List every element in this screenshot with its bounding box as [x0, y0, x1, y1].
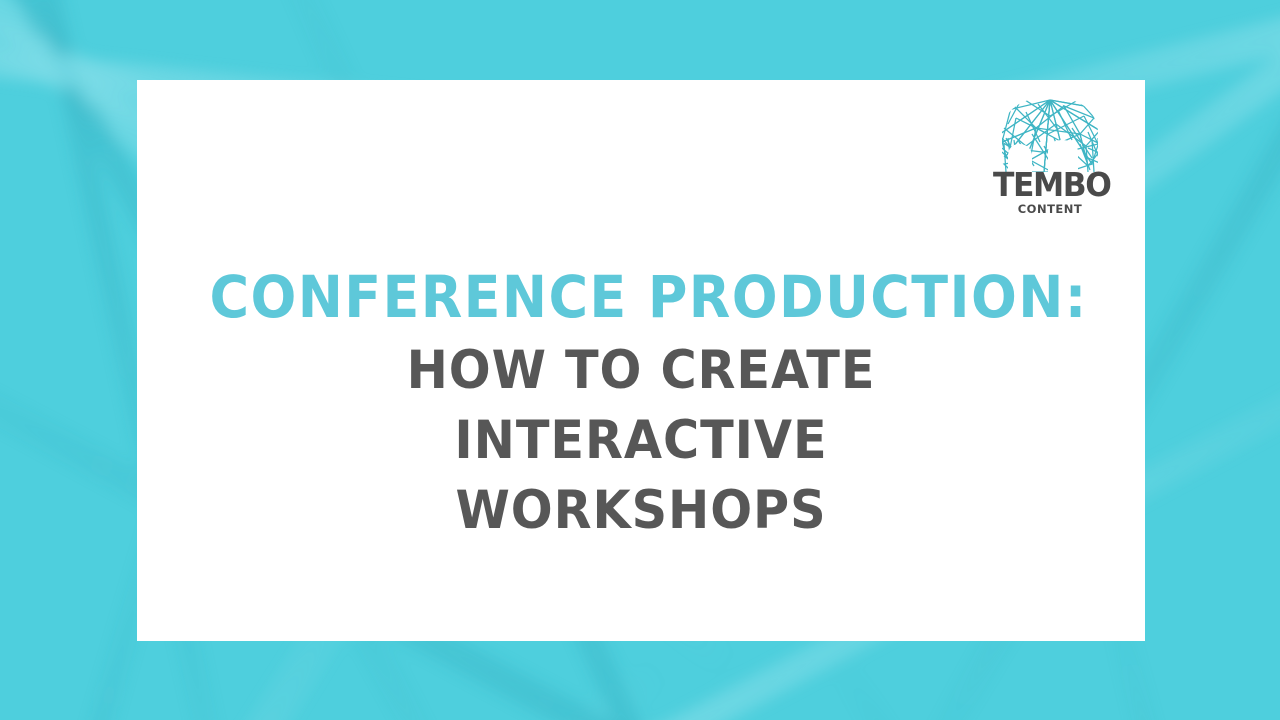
- slide-title: CONFERENCE PRODUCTION:: [209, 265, 1072, 330]
- tembo-logo: TEMBO CONTENT: [990, 94, 1110, 219]
- slide-subtitle-line: INTERACTIVE: [209, 406, 1072, 476]
- title-block: CONFERENCE PRODUCTION: HOW TO CREATE INT…: [137, 265, 1145, 546]
- logo-brand-name: TEMBO: [993, 168, 1107, 201]
- slide-subtitle-line: HOW TO CREATE: [209, 336, 1072, 406]
- slide-card: TEMBO CONTENT CONFERENCE PRODUCTION: HOW…: [137, 80, 1145, 641]
- logo-tagline: CONTENT: [990, 204, 1110, 216]
- elephant-icon: [992, 94, 1108, 172]
- logo-wordmark: TEMBO CONTENT: [990, 168, 1110, 216]
- slide-subtitle: HOW TO CREATE INTERACTIVE WORKSHOPS: [209, 336, 1072, 546]
- slide-subtitle-line: WORKSHOPS: [209, 476, 1072, 546]
- presentation-slide: TEMBO CONTENT CONFERENCE PRODUCTION: HOW…: [0, 0, 1280, 720]
